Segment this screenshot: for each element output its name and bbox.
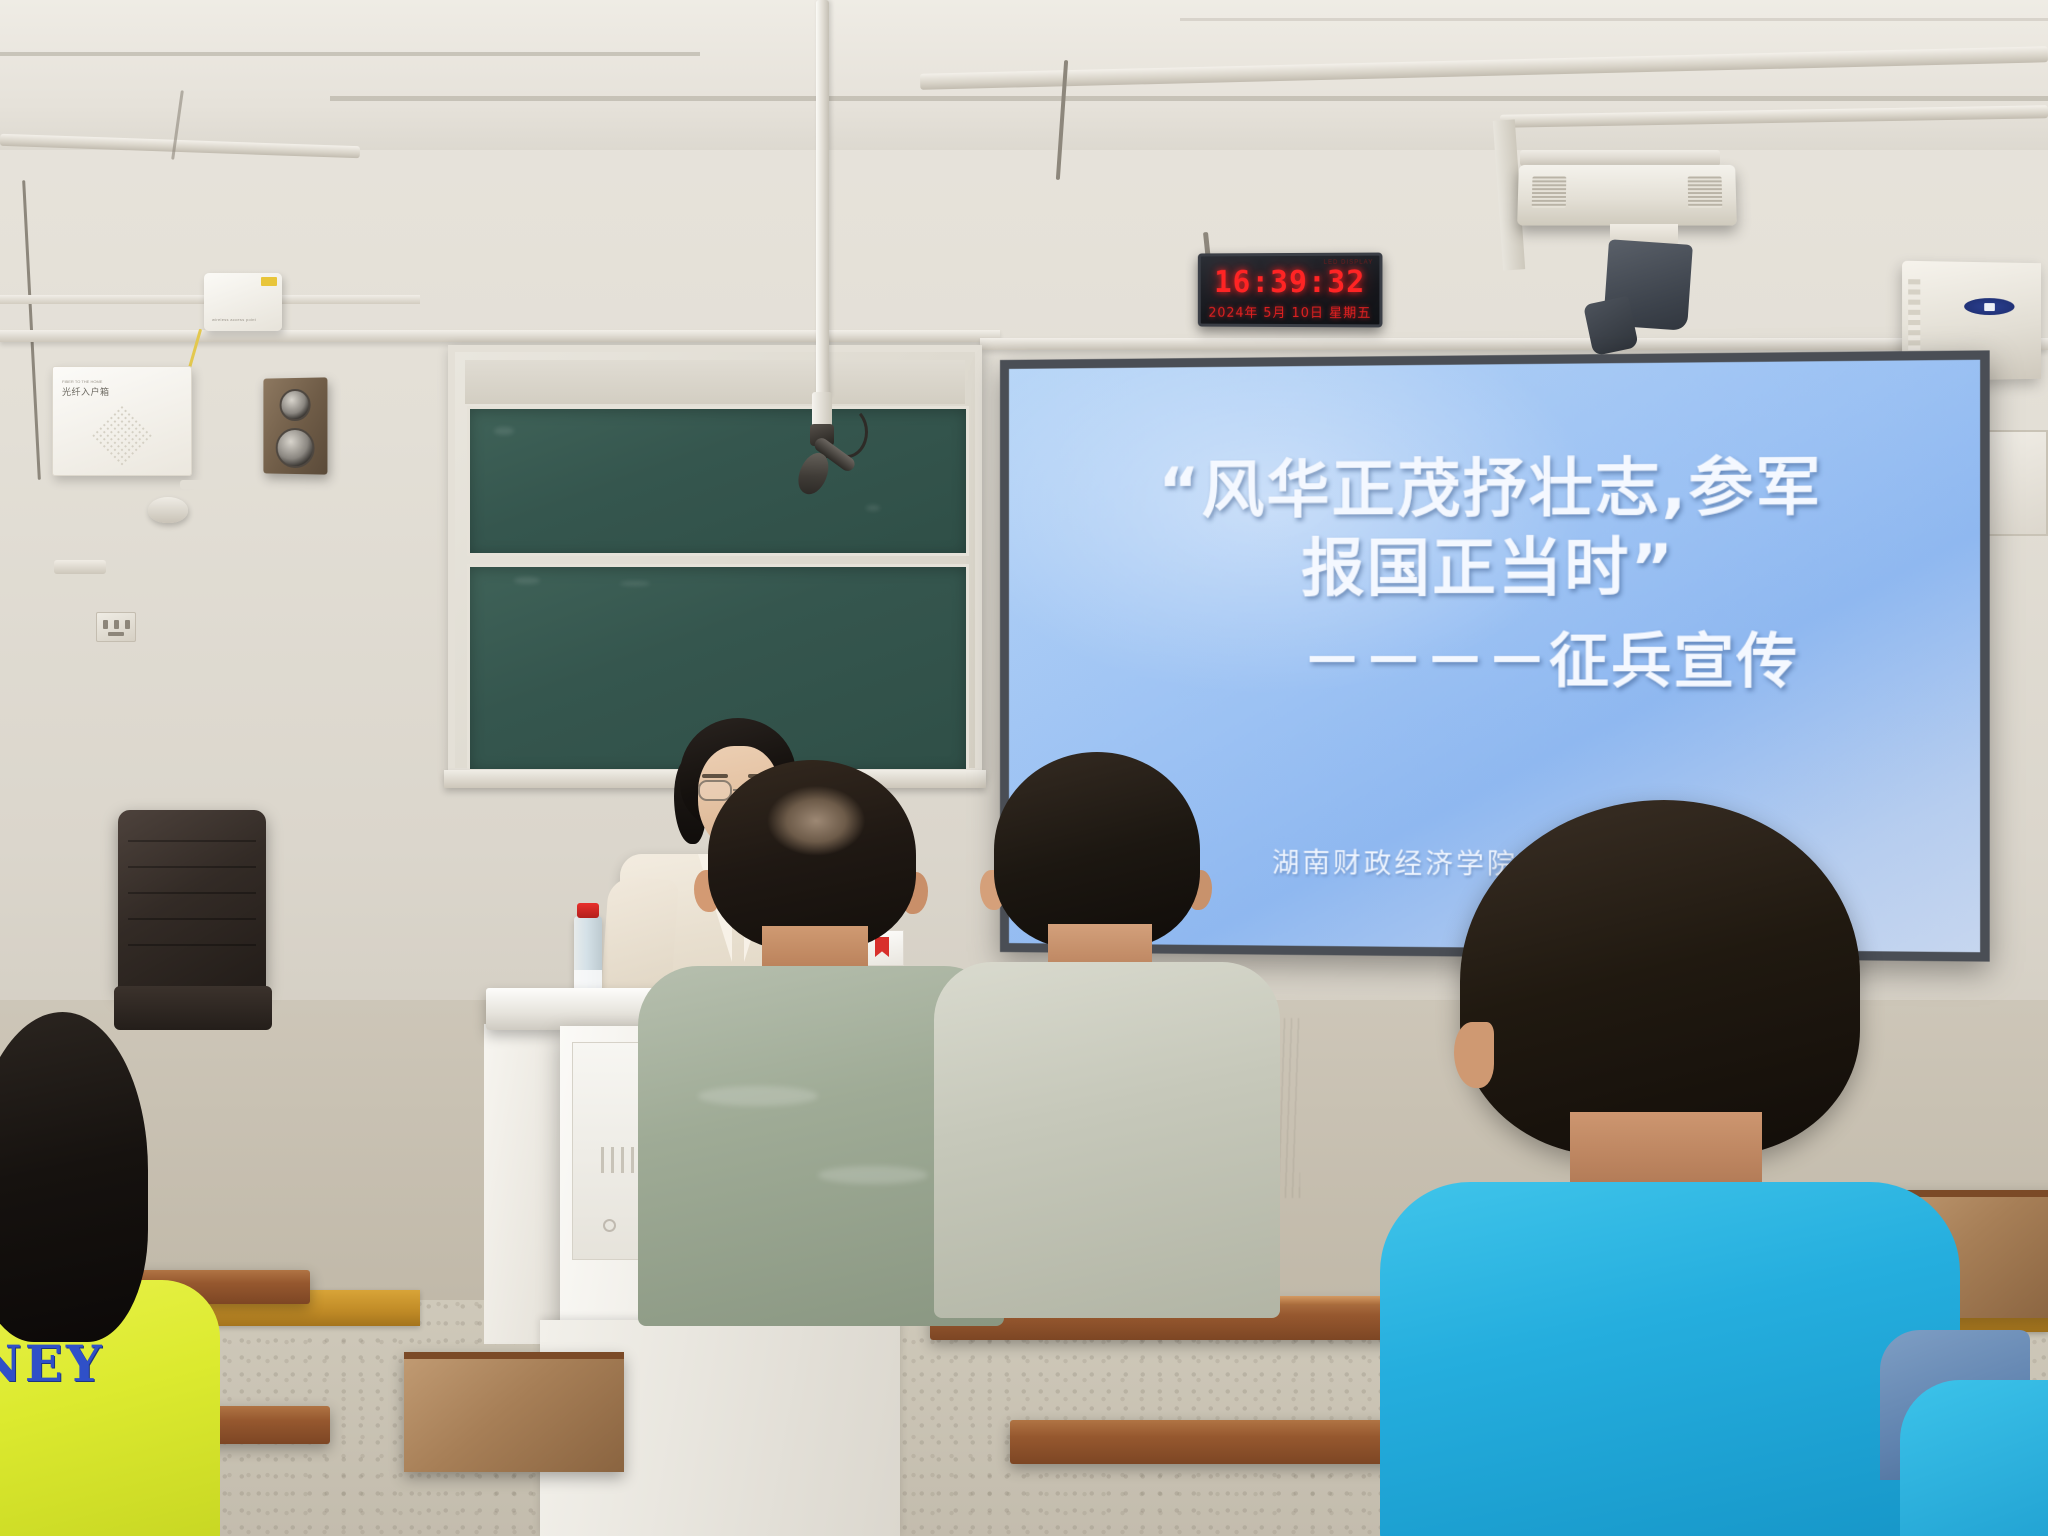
head xyxy=(0,1012,148,1342)
water-bottle xyxy=(574,916,602,996)
blackboard xyxy=(448,345,982,775)
chair-backrest xyxy=(118,810,266,994)
head xyxy=(1460,800,1860,1156)
blackboard-header-strip xyxy=(465,360,965,404)
head xyxy=(994,752,1200,948)
fiber-box-label: 光纤入户箱 xyxy=(62,385,110,398)
shirt xyxy=(934,962,1280,1318)
slide-attribution: －－－－征兵宣传 xyxy=(1009,618,1980,705)
wall-sensor xyxy=(54,560,106,574)
power-socket-icon xyxy=(96,612,136,642)
ear xyxy=(1454,1022,1494,1088)
desk xyxy=(404,1352,624,1472)
slide-title-line-2: 报国正当时” xyxy=(1009,527,1980,609)
ceiling-seam xyxy=(0,52,700,56)
clock-date: 2024年 5月 10日 星期五 xyxy=(1201,302,1380,322)
projector-mount-plate xyxy=(1520,150,1720,166)
clock-time: 16:39:32 xyxy=(1201,265,1380,300)
fiber-box-sublabel: FIBER TO THE HOME xyxy=(62,379,102,384)
ceiling-seam xyxy=(330,96,2048,101)
security-camera-icon xyxy=(148,497,188,523)
head xyxy=(708,760,916,950)
classroom-scene: wireless access point FIBER TO THE HOME … xyxy=(0,0,2048,1536)
podium-lock xyxy=(603,1219,616,1232)
shirt xyxy=(1900,1380,2048,1536)
wireless-access-point-icon: wireless access point xyxy=(204,273,282,331)
audience-member xyxy=(960,752,1250,1320)
audience-member xyxy=(1900,1380,2048,1536)
audience-member xyxy=(1460,800,1880,1536)
ceiling-projector-icon xyxy=(1517,165,1737,226)
camera-mount xyxy=(180,480,222,489)
blackboard-panel-upper xyxy=(467,406,969,556)
bottle-cap xyxy=(577,903,599,918)
led-clock-display: LED DISPLAY 16:39:32 2024年 5月 10日 星期五 xyxy=(1198,253,1383,328)
wall-speaker-icon xyxy=(263,377,327,474)
shirt xyxy=(1380,1182,1960,1536)
ceiling-seam xyxy=(1180,18,2048,21)
ap-warning-label xyxy=(261,277,277,286)
slide-title-line-1: “风华正茂抒壮志,参军 xyxy=(1009,446,1980,531)
microphone-pole xyxy=(816,0,829,398)
podium-side xyxy=(484,1024,566,1344)
ap-label: wireless access point xyxy=(212,317,256,322)
ac-brand-logo xyxy=(1964,298,2014,315)
shirt-text: NEY xyxy=(0,1334,105,1393)
audience-member-left: NEY xyxy=(0,1012,240,1536)
speaker-tweeter xyxy=(280,389,311,421)
fiber-distribution-box: FIBER TO THE HOME 光纤入户箱 xyxy=(52,366,192,476)
fiber-box-vent xyxy=(91,404,153,466)
wall-ledge xyxy=(980,338,2048,350)
audience-member xyxy=(672,760,972,1320)
bottle-label xyxy=(574,970,602,988)
wall-ledge xyxy=(0,330,1000,342)
slide-title-block: “风华正茂抒壮志,参军 报国正当时” －－－－征兵宣传 xyxy=(1009,446,1980,704)
speaker-woofer xyxy=(276,428,315,468)
ac-vent xyxy=(1908,279,1920,359)
